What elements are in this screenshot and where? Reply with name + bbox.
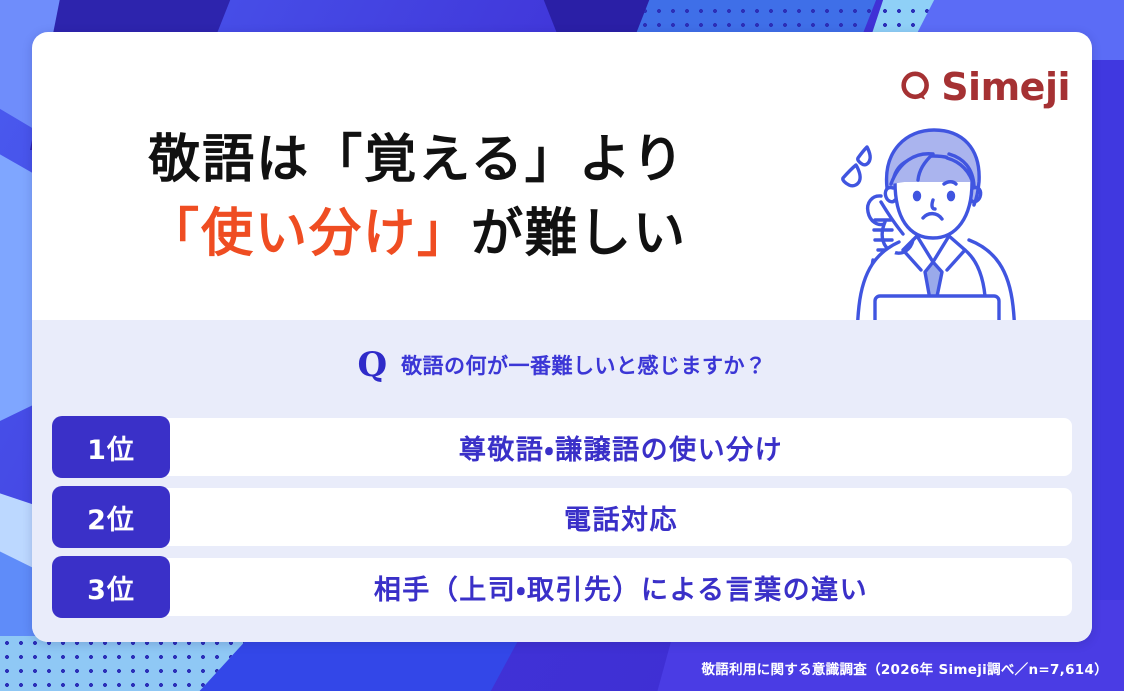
- rank-badge-1: 1位: [52, 416, 170, 478]
- headline-line-2: 「使い分け」が難しい: [32, 198, 802, 272]
- speech-bubble-q-icon: [899, 70, 933, 104]
- headline-line-2-rest: が難しい: [471, 204, 687, 264]
- ranking-row-2[interactable]: 2位 電話対応: [52, 488, 1072, 546]
- content-card: Simeji 敬語は「覚える」より 「使い分け」が難しい: [32, 32, 1092, 642]
- simeji-wordmark: Simeji: [941, 68, 1070, 106]
- simeji-logo: Simeji: [899, 68, 1070, 106]
- headline-accent-text: 「使い分け」: [147, 204, 471, 264]
- headline: 敬語は「覚える」より 「使い分け」が難しい: [32, 124, 802, 272]
- question-text: 敬語の何が一番難しいと感じますか？: [401, 350, 767, 380]
- results-panel: Q 敬語の何が一番難しいと感じますか？ 1位 尊敬語・謙譲語の使い分け 2位 電…: [32, 320, 1092, 642]
- ranking-row-1[interactable]: 1位 尊敬語・謙譲語の使い分け: [52, 418, 1072, 476]
- rank-label-3: 相手（上司・取引先）による言葉の違い: [52, 568, 1072, 607]
- question-marker-icon: Q: [357, 348, 387, 382]
- rank-badge-3: 3位: [52, 556, 170, 618]
- ranking-row-3[interactable]: 3位 相手（上司・取引先）による言葉の違い: [52, 558, 1072, 616]
- ranking-list: 1位 尊敬語・謙譲語の使い分け 2位 電話対応 3位 相手（上司・取引先）による…: [52, 418, 1072, 616]
- headline-line-1: 敬語は「覚える」より: [32, 124, 802, 198]
- rank-label-1: 尊敬語・謙譲語の使い分け: [52, 428, 1072, 467]
- source-footnote: 敬語利用に関する意識調査（2026年 Simeji調べ／n=7,614）: [701, 658, 1108, 678]
- rank-badge-2: 2位: [52, 486, 170, 548]
- rank-label-2: 電話対応: [52, 498, 1072, 537]
- survey-question: Q 敬語の何が一番難しいと感じますか？: [32, 348, 1092, 382]
- infographic-canvas: Simeji 敬語は「覚える」より 「使い分け」が難しい: [0, 0, 1124, 691]
